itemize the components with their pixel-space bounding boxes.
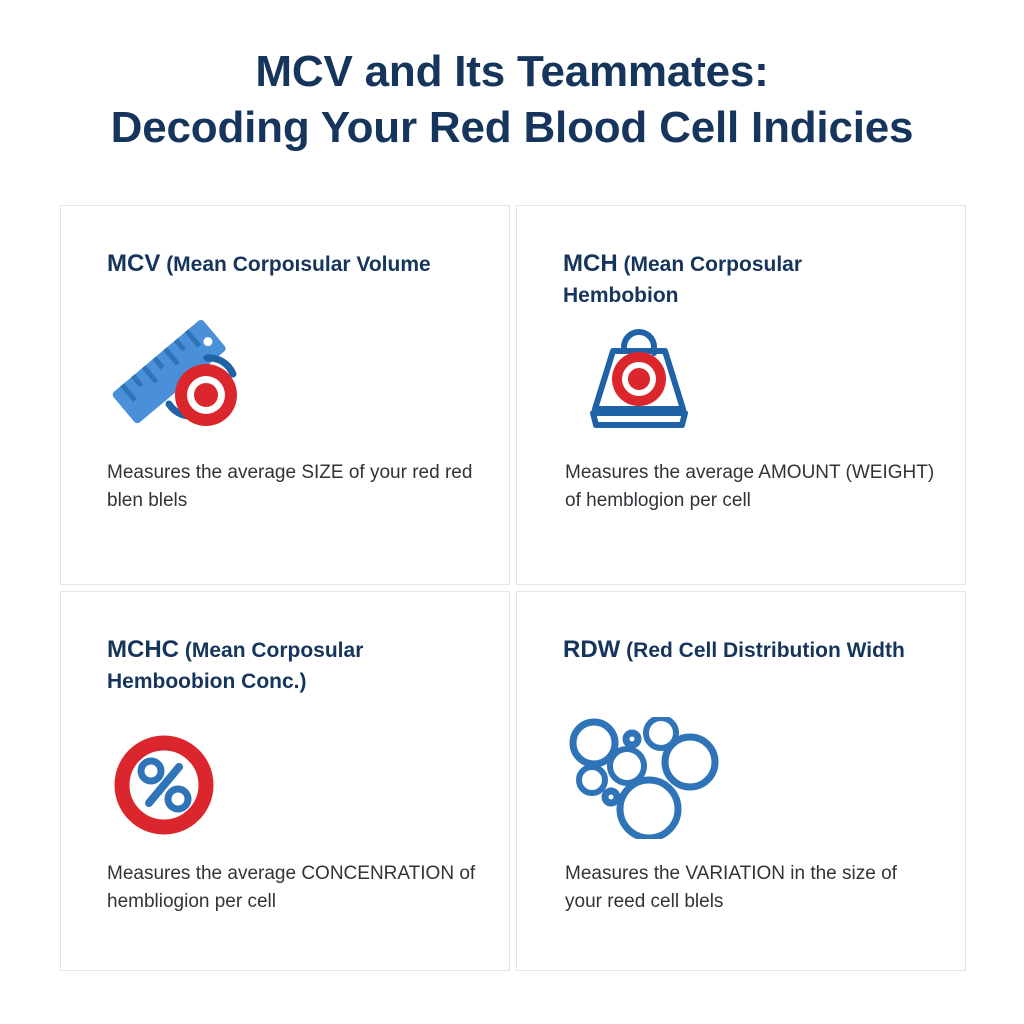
card-mcv-expansion: (Mean Corpoısular Volume xyxy=(166,253,430,276)
title-line-2: Decoding Your Red Blood Cell Indicies xyxy=(0,100,1024,156)
card-rdw: RDW (Red Cell Distribution Width xyxy=(516,591,966,971)
card-mcv: MCV (Mean Corpoısular Volume xyxy=(60,205,510,585)
weight-blood-cell-icon xyxy=(579,321,699,433)
card-rdw-title: RDW (Red Cell Distribution Width xyxy=(563,634,921,666)
title-line-1: MCV and Its Teammates: xyxy=(0,44,1024,100)
card-mchc-title: MCHC (Mean Corposular Hemboobion Conc.) xyxy=(107,634,465,697)
card-mcv-abbr: MCV xyxy=(107,250,160,277)
infographic-page: MCV and Its Teammates: Decoding Your Red… xyxy=(0,0,1024,1024)
card-mchc-description: Measures the average CONCENRATION of hem… xyxy=(107,860,479,916)
card-rdw-expansion: (Red Cell Distribution Width xyxy=(626,639,905,662)
percent-ring-icon xyxy=(109,733,219,837)
page-title: MCV and Its Teammates: Decoding Your Red… xyxy=(0,44,1024,156)
indices-card-grid: MCV (Mean Corpoısular Volume xyxy=(60,205,966,977)
card-rdw-description: Measures the VARIATION in the size of yo… xyxy=(565,860,935,916)
card-mchc-abbr: MCHC xyxy=(107,636,179,663)
card-mch: MCH (Mean Corposular Hembobion Meas xyxy=(516,205,966,585)
card-mch-title: MCH (Mean Corposular Hembobion xyxy=(563,248,921,311)
card-mcv-title: MCV (Mean Corpoısular Volume xyxy=(107,248,465,280)
card-mch-abbr: MCH xyxy=(563,250,618,277)
card-mcv-description: Measures the average SIZE of your red re… xyxy=(107,459,479,515)
card-mch-description: Measures the average AMOUNT (WEIGHT) of … xyxy=(565,459,935,515)
card-rdw-abbr: RDW xyxy=(563,636,620,663)
card-mchc: MCHC (Mean Corposular Hemboobion Conc.) … xyxy=(60,591,510,971)
ruler-blood-cell-icon xyxy=(107,318,247,433)
scattered-cells-icon xyxy=(563,717,733,839)
